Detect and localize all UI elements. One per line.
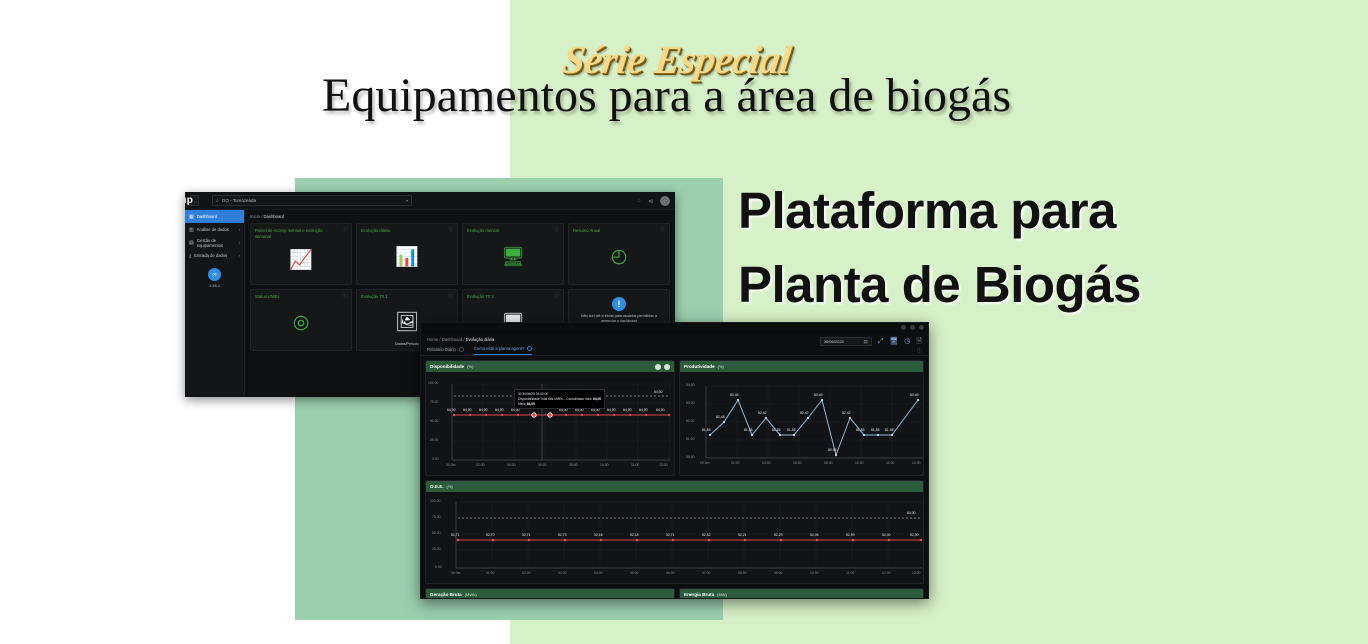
panel-title: O.E.E. (430, 484, 444, 489)
sidebar-item-dashboard[interactable]: ▦ Dashboard (185, 210, 244, 223)
help-icon[interactable]: ◌ (637, 198, 641, 204)
breadcrumb-home[interactable]: Home (427, 337, 438, 342)
tab-label: Como está a planta agora? (474, 346, 525, 351)
tooltip-meta-line: Meta: 84,00 (518, 402, 601, 407)
breadcrumb-sep: / (463, 337, 464, 342)
sidebar-item-label: Análise de dados (197, 227, 229, 232)
panel-unit: (MWh) (465, 592, 477, 597)
x-tick-6: 12:00 (886, 461, 895, 465)
y-tick-100: 100,00 (430, 499, 440, 503)
panel-unit: (MW) (717, 592, 727, 597)
point-label: 64,00 (656, 408, 665, 412)
panel-disponibilidade: Disponibilidade (%) (425, 360, 675, 476)
info-icon[interactable]: ⓘ (343, 227, 348, 233)
calendar-icon[interactable]: ▤ (863, 339, 867, 345)
point-label: 81,55 (787, 428, 796, 432)
x-tick-0: 00:3m (451, 571, 460, 575)
y-tick-25: 25,00 (432, 547, 441, 551)
window2-window-controls[interactable] (901, 325, 924, 330)
panel-header: Disponibilidade (%) (426, 361, 674, 372)
chart-produtividade-svg (680, 372, 924, 475)
panel-unit: (%) (718, 364, 724, 369)
tooltip-meta-label: Meta: (518, 402, 526, 406)
kicker-serie-especial: Série Especial (560, 40, 793, 80)
meta-label: 84,00 (907, 511, 916, 515)
info-icon[interactable]: ⓘ (555, 293, 560, 299)
info-icon[interactable]: ⓘ (449, 227, 454, 233)
point-label: 64,00 (607, 408, 616, 412)
x-tick-2: 04:00 (507, 463, 516, 467)
info-icon[interactable]: ⓘ (661, 227, 666, 233)
point-label: 64,00 (479, 408, 488, 412)
point-label: 52,71 (666, 533, 675, 537)
window2-toolbar[interactable]: 30/06/2025 ▤ ⤢ 🖥 ◷ 🗎 (820, 337, 922, 346)
point-label: 64,00 (495, 408, 504, 412)
meta-label: 84,00 (654, 390, 663, 394)
panel-actions[interactable] (655, 364, 670, 370)
sidebar-item-label: Entrada de dados (194, 253, 227, 258)
info-icon[interactable]: ⓘ (449, 293, 454, 299)
breadcrumb-home[interactable]: Início (250, 214, 260, 219)
chevron-right-icon: › (239, 253, 240, 258)
panel-title: Energia Bruta (684, 592, 714, 597)
breadcrumb: Início / Dashboard (250, 214, 670, 219)
x-tick-7: 13:00 (659, 463, 668, 467)
panel-energia-bruta: Energia Bruta (MW) (679, 588, 924, 599)
gauge-circle-icon: ◴ (573, 234, 665, 280)
point-label: 64,00 (463, 408, 472, 412)
panel-header: Energia Bruta (MW) (680, 589, 923, 599)
alert-exclamation-icon: ! (612, 297, 626, 311)
x-tick-3: 06:00 (793, 461, 802, 465)
info-icon[interactable] (664, 364, 670, 370)
chart-produtividade: 84,00 83,00 82,00 81,00 80,00 00:3m 02:0… (680, 372, 923, 475)
x-tick-5: 10:00 (600, 463, 609, 467)
point-label: 81,55 (856, 428, 865, 432)
x-tick-0: 00:3m (446, 463, 455, 467)
x-tick-5: 10:00 (855, 461, 864, 465)
tab-label: Relatório Diário (427, 347, 456, 352)
share-icon[interactable]: ⊲ (648, 198, 653, 205)
card-title: Painel de Acomp mensal e evolução semana… (255, 228, 347, 239)
x-tick-11: 11:00 (846, 571, 854, 575)
x-tick-6: 11:00 (631, 463, 639, 467)
point-label: 64,00 (639, 408, 648, 412)
x-tick-4: 08:00 (824, 461, 833, 465)
point-label: 52,70 (486, 533, 495, 537)
breadcrumb-current: Evolução diária (466, 337, 495, 342)
window2-titlebar (421, 323, 928, 334)
window2-content: Disponibilidade (%) (421, 356, 928, 599)
info-icon[interactable]: ⓘ (343, 293, 348, 299)
panel-header: Produtividade (%) (680, 361, 923, 372)
point-label: 52,00 (910, 533, 919, 537)
point-label: 52,00 (882, 533, 891, 537)
presentation-icon: 🖥 (467, 234, 559, 280)
panel-geracao-bruta: Geração Bruta (MWh) (425, 588, 675, 599)
dashboard-card-status-umes[interactable]: Status UMEs ⓘ ◎ (250, 289, 352, 351)
settings-icon[interactable] (655, 364, 661, 370)
tab-como-esta-a-planta-agora[interactable]: Como está a planta agora? (474, 346, 533, 355)
x-tick-9: 09:00 (774, 571, 783, 575)
x-tick-1: 02:00 (731, 461, 740, 465)
x-tick-4: 08:00 (569, 463, 578, 467)
plant-select-value: GO - Tomazeada (222, 198, 256, 203)
minimize-icon[interactable] (901, 325, 906, 330)
panel-oee: O.E.E. (%) (425, 480, 924, 584)
window1-topbar-actions[interactable]: ◌ ⊲ (637, 192, 670, 210)
charts-row-1: Disponibilidade (%) (425, 360, 924, 476)
point-label: 81,55 (772, 428, 781, 432)
x-tick-2: 02:00 (522, 571, 531, 575)
chart-oee-svg (426, 492, 924, 583)
window2-header: Home / Dashboard / Evolução diária 30/06… (421, 334, 928, 342)
panel-title: Produtividade (684, 364, 715, 369)
point-label: 80,55 (828, 448, 837, 452)
brand-name: Intelup (185, 195, 193, 206)
point-label: 81,55 (702, 428, 711, 432)
point-label: 52,99 (846, 533, 855, 537)
chart-oee: 100,00 75,00 50,00 25,00 0,00 00:3m 01:0… (426, 492, 923, 583)
point-label: 52,29 (774, 533, 783, 537)
point-label: 52,71 (522, 533, 531, 537)
panel-header: Geração Bruta (MWh) (426, 589, 674, 599)
point-label: 64,00 (447, 408, 456, 412)
tooltip-series-label: Disponibilidade Total dos UMEs – Consoli… (518, 397, 592, 401)
radio-icon[interactable] (527, 346, 532, 351)
clock-icon[interactable]: ◷ (904, 338, 910, 345)
x-tick-1: 01:00 (486, 571, 495, 575)
y-tick-25: 25,00 (430, 438, 439, 442)
window1-topbar: ∞ Intelup ⌕ GO - Tomazeada ▾ ◌ ⊲ (185, 192, 675, 210)
plant-select[interactable]: ⌕ GO - Tomazeada ▾ (212, 195, 412, 206)
sidebar-version-badge: ∞ 1.36.1 (185, 268, 244, 288)
y-tick-84: 84,00 (686, 383, 695, 387)
y-tick-0: 0,00 (435, 565, 442, 569)
x-tick-0: 00:3m (700, 461, 709, 465)
sidebar-item-gestao-de-equipamentos[interactable]: ▤ Gestão de equipamentos › (185, 236, 244, 249)
x-tick-3: 03:00 (558, 571, 567, 575)
y-tick-50: 50,00 (432, 531, 441, 535)
panel-title: Disponibilidade (430, 364, 464, 369)
x-tick-8: 08:00 (738, 571, 747, 575)
point-label: 52,73 (558, 533, 567, 537)
y-tick-100: 100,00 (428, 381, 438, 385)
breadcrumb-sep: / (261, 214, 262, 219)
x-tick-2: 04:00 (762, 461, 771, 465)
monitor-icon[interactable]: 🖥 (889, 338, 898, 345)
chevron-down-icon[interactable]: ▾ (406, 198, 408, 203)
chart-tooltip: 30 30/06/25 04:00:00 Disponibilidade Tot… (514, 389, 605, 409)
breadcrumb-dashboard[interactable]: Dashboard (442, 337, 463, 342)
panel-produtividade: Produtividade (%) (679, 360, 924, 476)
x-tick-6: 06:00 (666, 571, 675, 575)
help-circle-icon[interactable]: ⓘ (917, 347, 922, 354)
dashboard-icon: ▦ (189, 214, 194, 220)
panel-header: O.E.E. (%) (426, 481, 923, 492)
y-tick-81: 81,00 (686, 437, 695, 441)
equipment-icon: ▤ (189, 240, 194, 246)
avatar[interactable] (660, 196, 670, 206)
point-label: 82,42 (758, 411, 767, 415)
sidebar-item-label: Gestão de equipamentos (197, 238, 236, 248)
y-tick-82: 82,00 (686, 419, 695, 423)
chart-disponibilidade: 100,00 75,00 50,00 25,00 0,00 00:3m 02:0… (426, 372, 674, 475)
close-icon[interactable] (919, 325, 924, 330)
panel-title: Geração Bruta (430, 592, 462, 597)
panel-unit: (%) (447, 484, 453, 489)
point-label: 52,18 (594, 533, 603, 537)
date-value: 30/06/2025 (824, 339, 844, 344)
export-doc-icon[interactable]: 🗎 (916, 338, 922, 345)
y-tick-83: 83,00 (686, 401, 695, 405)
point-label: 83,45 (814, 393, 823, 397)
point-label: 52,71 (451, 533, 460, 537)
chevron-right-icon: › (239, 227, 240, 232)
panel-unit: (%) (467, 364, 473, 369)
tooltip-meta-value: 84,00 (527, 402, 535, 406)
dashboard-card-evolucao-mensal[interactable]: Evolução mensal ⓘ 🖥 (462, 223, 564, 285)
dashboard-card-resumo-anual[interactable]: Resumo Anual ⓘ ◴ (568, 223, 670, 285)
y-tick-0: 0,00 (432, 457, 439, 461)
download-icon: ⤓ (189, 253, 191, 259)
tooltip-series-value: 64,00 (593, 397, 601, 401)
app-version: 1.36.1 (209, 283, 220, 288)
y-tick-80: 80,00 (686, 455, 695, 459)
sidebar-item-label: Dashboard (197, 214, 218, 219)
chart-disponibilidade-svg (426, 372, 675, 475)
y-tick-75: 75,00 (432, 515, 441, 519)
dashboard-card-evolucao-diaria[interactable]: Evolução diária ⓘ 📊 (356, 223, 458, 285)
point-label: 52,06 (810, 533, 819, 537)
point-label: 83,45 (910, 393, 919, 397)
chart-icon: ▥ (189, 227, 194, 233)
x-tick-1: 02:00 (476, 463, 485, 467)
chevron-right-icon: › (239, 240, 240, 245)
point-label: 82,42 (842, 411, 851, 415)
info-icon[interactable]: ⓘ (555, 227, 560, 233)
point-label: 52,18 (630, 533, 639, 537)
point-label: 83,45 (730, 393, 739, 397)
maximize-icon[interactable] (910, 325, 915, 330)
x-tick-7: 07:00 (702, 571, 711, 575)
promo-title: Plataforma para Planta de Biogás (738, 174, 1208, 322)
evolucao-diaria-window[interactable]: Home / Dashboard / Evolução diária 30/06… (420, 322, 929, 599)
intelup-logo: ∞ Intelup (185, 195, 204, 206)
sidebar-item-entrada-de-dados[interactable]: ⤓ Entrada de dados › (185, 249, 244, 262)
breadcrumb-current: Dashboard (264, 214, 285, 219)
promo-title-line1: Plataforma para (738, 174, 1208, 248)
infinity-badge-icon: ∞ (208, 268, 221, 281)
sidebar[interactable]: ▦ Dashboard ▥ Análise de dados › ▤ Gestã… (185, 210, 245, 397)
speedometer-icon: ◎ (255, 300, 347, 346)
trend-up-icon: 📈 (255, 239, 347, 280)
point-label: 82,48 (716, 415, 725, 419)
sidebar-item-analise-de-dados[interactable]: ▥ Análise de dados › (185, 223, 244, 236)
tab-relatorio-diario[interactable]: Relatório Diário (427, 347, 464, 355)
radio-icon[interactable] (459, 347, 464, 352)
point-label: 81,55 (885, 428, 894, 432)
search-icon: ⌕ (216, 198, 219, 204)
date-picker[interactable]: 30/06/2025 ▤ (820, 337, 872, 346)
x-tick-5: 05:00 (630, 571, 639, 575)
point-label: 52,52 (702, 533, 711, 537)
point-label: 81,55 (871, 428, 880, 432)
y-tick-50: 50,00 (430, 419, 439, 423)
point-label: 82,42 (800, 411, 809, 415)
bar-chart-icon: 📊 (361, 234, 453, 280)
dashboard-card-painel-acomp[interactable]: Painel de Acomp mensal e evolução semana… (250, 223, 352, 285)
x-tick-4: 04:00 (594, 571, 603, 575)
point-label: 64,00 (623, 408, 632, 412)
point-label: 52,21 (738, 533, 747, 537)
point-label: 81,58 (744, 428, 753, 432)
x-tick-7: 14:00 (912, 461, 921, 465)
y-tick-75: 75,00 (430, 400, 439, 404)
expand-icon[interactable]: ⤢ (878, 338, 884, 345)
x-tick-10: 10:00 (810, 571, 819, 575)
x-tick-12: 12:00 (882, 571, 891, 575)
breadcrumb-sep: / (439, 337, 440, 342)
x-tick-3: 06:00 (538, 463, 547, 467)
charts-row-3: Geração Bruta (MWh) Energia Bruta (MW) (425, 588, 924, 599)
x-tick-13: 13:00 (912, 571, 921, 575)
promo-title-line2: Planta de Biogás (738, 248, 1208, 322)
